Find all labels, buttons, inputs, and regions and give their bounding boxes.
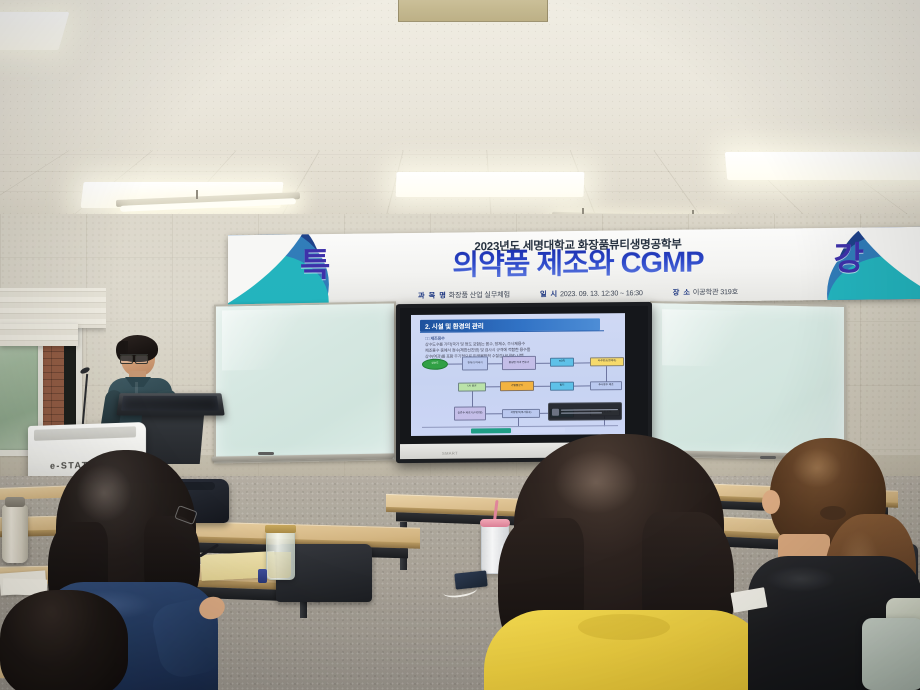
flow-connector [574, 385, 590, 386]
jar-liquid [268, 552, 291, 578]
banner-footer-item: 과 목 명 화장품 산업 실무체험 [418, 290, 510, 301]
notification-icon [552, 408, 559, 415]
flow-connector [606, 366, 607, 382]
student-ear [762, 490, 780, 514]
flow-connector [574, 362, 590, 363]
slide-title-rule [420, 330, 604, 333]
jar-lid [265, 525, 296, 533]
lectern-surface [116, 393, 224, 415]
whiteboard-glare [222, 308, 342, 370]
flow-connector [486, 386, 500, 387]
whiteboard-glare [662, 309, 790, 368]
slide-title: 2. 시설 및 환경의 관리 [425, 320, 484, 331]
slide-screen: 2. 시설 및 환경의 관리 □□ 제조용수 상수도수를 기타(국가 및 정도 … [411, 313, 625, 436]
ceiling-light-panel [725, 152, 920, 180]
banner-footer-value: 이공학관 319호 [693, 287, 738, 297]
hair-tie [820, 506, 846, 520]
student-hair-sheen [76, 464, 132, 522]
flow-connector [488, 363, 502, 364]
flow-connector [536, 363, 550, 364]
flow-node: 저장탱크(주사용수) [502, 409, 540, 418]
whiteboard-marker[interactable] [258, 452, 274, 455]
flow-node: 주사용수 제조 [590, 381, 622, 390]
banner-footer-value: 화장품 산업 실무체험 [449, 290, 510, 300]
slide-accent-tag-2 [513, 428, 565, 433]
window-blind[interactable] [0, 288, 106, 328]
banner-footer-item: 일 시 2023. 09. 13. 12:30 ~ 16:30 [540, 288, 643, 299]
flow-node: 필터 [550, 382, 574, 391]
ceiling-light-panel [396, 172, 585, 197]
pen-cap[interactable] [258, 569, 267, 583]
flow-node: 저수탱크(정제수) [590, 357, 624, 366]
flow-node: 가열멸균기 [500, 381, 534, 391]
thermos-bottle[interactable] [2, 505, 28, 563]
flow-node: 활성탄 여과 연수기 [502, 356, 536, 370]
lectern-monitor[interactable] [121, 396, 219, 411]
notification-toast[interactable] [548, 402, 622, 421]
flow-connector [486, 413, 502, 414]
flow-node: 상수도 [422, 359, 448, 370]
flow-connector [448, 364, 462, 365]
flow-node: RO막 [550, 358, 574, 367]
banner-footer-label: 장 소 [673, 288, 691, 297]
student-partial [0, 590, 120, 690]
student-collar [578, 614, 670, 640]
flow-node: 전처리 여과기 [462, 356, 488, 370]
notification-text [561, 408, 618, 415]
glass-jar[interactable] [266, 530, 295, 580]
banner-footer-item: 장 소 이공학관 319호 [673, 287, 738, 298]
student-hair [0, 590, 128, 690]
banner-footer-label: 일 시 [540, 289, 558, 298]
event-banner: 특 강 2023년도 세명대학교 화장품뷰티생명공학부 의약품 제조와 CGMP… [228, 227, 920, 308]
glasses-icon [120, 354, 148, 362]
classroom-photo: 특 강 2023년도 세명대학교 화장품뷰티생명공학부 의약품 제조와 CGMP… [0, 0, 920, 690]
student-hair-sheen [792, 448, 842, 488]
display-brand-label: SMART [442, 451, 458, 456]
student-shoulder-highlight [766, 566, 836, 592]
banner-footer-value: 2023. 09. 13. 12:30 ~ 16:30 [560, 288, 643, 298]
student-yellow [492, 434, 762, 690]
flow-connector [534, 386, 550, 387]
flow-node: UV 살균 [458, 382, 486, 391]
ceiling-vent [398, 0, 548, 22]
ceiling [0, 0, 920, 232]
bottle-cap [5, 497, 25, 507]
ceiling-light-panel [0, 12, 69, 50]
pendant-hanger [196, 190, 198, 199]
student-hair-sheen [554, 450, 638, 514]
tote-bag[interactable] [862, 618, 920, 690]
banner-footer-label: 과 목 명 [418, 291, 447, 300]
slide-accent-tag [471, 428, 511, 433]
av-cabinet-top-panel [34, 426, 136, 441]
whiteboard-left [214, 301, 396, 463]
flow-node: 증류수 제조기 (다단형) [454, 406, 486, 420]
window-blind[interactable] [0, 324, 78, 346]
